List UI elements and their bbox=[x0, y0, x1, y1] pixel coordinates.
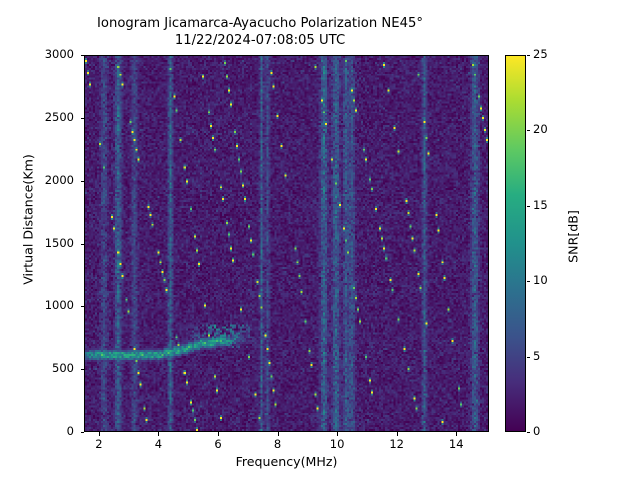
y-tick-mark bbox=[81, 118, 85, 119]
colorbar-tick-label: 5 bbox=[533, 349, 540, 363]
y-axis-label: Virtual Distance(Km) bbox=[21, 30, 36, 410]
y-tick-mark bbox=[81, 432, 85, 433]
y-tick-mark bbox=[81, 306, 85, 307]
colorbar-tick-label: 25 bbox=[533, 47, 548, 61]
colorbar-tick-mark bbox=[527, 130, 531, 131]
chart-title: Ionogram Jicamarca-Ayacucho Polarization… bbox=[0, 16, 520, 50]
chart-title-line-2: 11/22/2024-07:08:05 UTC bbox=[0, 33, 520, 50]
colorbar-tick-mark bbox=[527, 281, 531, 282]
colorbar-tick-mark bbox=[527, 357, 531, 358]
x-tick-mark bbox=[158, 432, 159, 436]
x-tick-label: 6 bbox=[198, 437, 238, 451]
colorbar-tick-mark bbox=[527, 432, 531, 433]
x-tick-mark bbox=[397, 432, 398, 436]
x-tick-label: 4 bbox=[138, 437, 178, 451]
x-tick-mark bbox=[337, 432, 338, 436]
x-axis-label: Frequency(MHz) bbox=[84, 454, 489, 469]
x-tick-label: 8 bbox=[258, 437, 298, 451]
colorbar-tick-label: 20 bbox=[533, 122, 548, 136]
chart-title-line-1: Ionogram Jicamarca-Ayacucho Polarization… bbox=[0, 16, 520, 33]
x-tick-label: 10 bbox=[317, 437, 357, 451]
colorbar-tick-label: 15 bbox=[533, 198, 548, 212]
colorbar-gradient bbox=[506, 56, 525, 431]
x-tick-mark bbox=[278, 432, 279, 436]
colorbar-label: SNR[dB] bbox=[566, 137, 581, 337]
ionogram-heatmap bbox=[85, 56, 488, 431]
x-tick-mark bbox=[218, 432, 219, 436]
x-tick-mark bbox=[99, 432, 100, 436]
y-tick-label: 0 bbox=[28, 424, 74, 438]
colorbar-tick-mark bbox=[527, 55, 531, 56]
x-tick-label: 14 bbox=[436, 437, 476, 451]
x-tick-mark bbox=[456, 432, 457, 436]
plot-area bbox=[84, 55, 489, 432]
y-tick-mark bbox=[81, 181, 85, 182]
y-tick-mark bbox=[81, 55, 85, 56]
colorbar bbox=[505, 55, 526, 432]
y-tick-mark bbox=[81, 244, 85, 245]
colorbar-tick-label: 10 bbox=[533, 273, 548, 287]
x-tick-label: 2 bbox=[79, 437, 119, 451]
ionogram-figure: Ionogram Jicamarca-Ayacucho Polarization… bbox=[0, 0, 640, 480]
colorbar-tick-mark bbox=[527, 206, 531, 207]
x-tick-label: 12 bbox=[377, 437, 417, 451]
colorbar-tick-label: 0 bbox=[533, 424, 540, 438]
y-tick-mark bbox=[81, 369, 85, 370]
